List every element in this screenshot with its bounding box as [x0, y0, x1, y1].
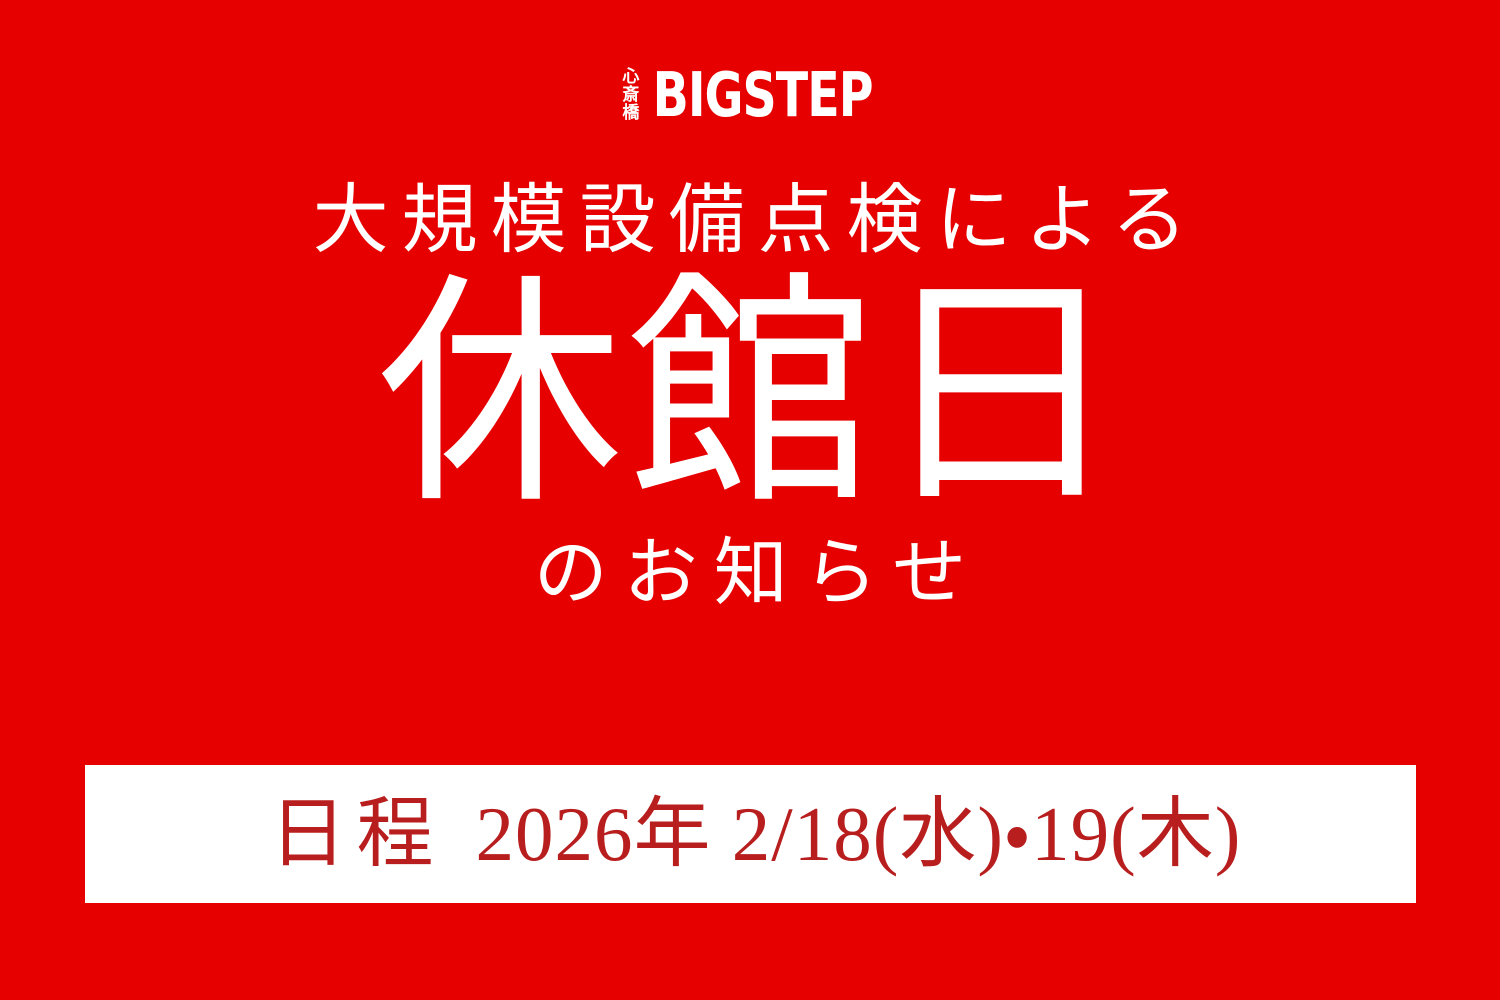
logo-wordmark: BIGSTEP	[653, 64, 873, 126]
date-line: 日程 2026年 2/18(水)・19(木)	[260, 796, 1242, 873]
headline-group: 大規模設備点検による 休館日 のお知らせ	[0, 180, 1500, 615]
date-label: 日程	[260, 796, 444, 873]
logo-kanji-char-3: 橋	[622, 105, 639, 123]
headline-sub: のお知らせ	[518, 534, 983, 615]
date-value: 2026年 2/18(水)・19(木)	[476, 796, 1242, 873]
closure-notice-poster: 心 斎 橋 BIGSTEP 大規模設備点検による 休館日 のお知らせ 日程 20…	[0, 0, 1500, 1000]
shinsaibashi-kanji-mark: 心 斎 橋	[622, 68, 639, 124]
headline-eyebrow: 大規模設備点検による	[300, 180, 1201, 262]
brand-logo: 心 斎 橋 BIGSTEP	[0, 60, 1500, 130]
date-banner: 日程 2026年 2/18(水)・19(木)	[85, 765, 1416, 903]
headline-main: 休館日	[373, 274, 1127, 520]
